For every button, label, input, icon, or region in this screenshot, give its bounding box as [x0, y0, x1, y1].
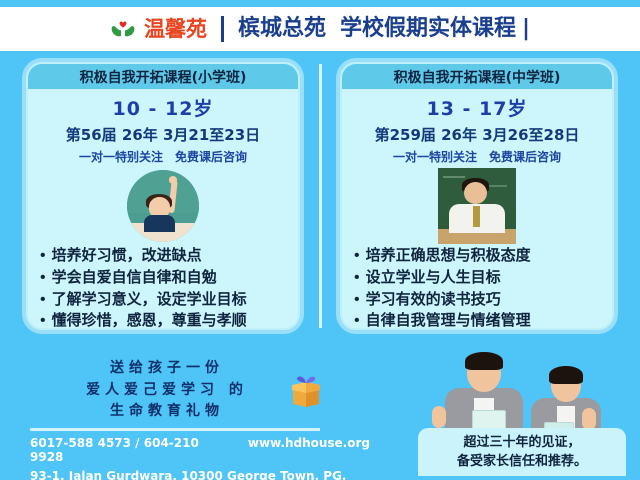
girl-raising-hand-photo	[127, 170, 199, 242]
card-banner-secondary: 积极自我开拓课程(中学班)	[342, 64, 612, 89]
card-banner-primary: 积极自我开拓课程(小学班)	[28, 64, 298, 89]
list-item-label: 培养好习惯，改进缺点	[52, 246, 202, 265]
bullet-icon: •	[354, 248, 360, 264]
contact-divider	[30, 428, 320, 431]
perk-attention: 一对一特别关注	[393, 150, 477, 164]
poster-root: 温馨苑 槟城总苑学校假期实体课程| 积极自我开拓课程(小学班) 10 - 12岁…	[0, 0, 640, 480]
phone-number[interactable]: 6017-588 4573 / 604-210 9928	[30, 436, 222, 464]
list-item: • 设立学业与人生目标	[354, 268, 604, 287]
age-range-secondary: 13 - 17岁	[342, 94, 612, 121]
card-banner-label: 积极自我开拓课程(小学班)	[80, 67, 247, 87]
address-text: 93-1, Jalan Gurdwara, 10300 George Town,…	[30, 469, 370, 480]
brand-name: 温馨苑	[144, 19, 207, 40]
list-item-label: 学会自爱自信自律和自勉	[52, 268, 217, 287]
bullet-icon: •	[354, 270, 360, 286]
header-underline	[0, 51, 640, 57]
list-item: • 培养好习惯，改进缺点	[40, 246, 290, 265]
list-item: • 了解学习意义，设定学业目标	[40, 290, 290, 309]
perks-primary: 一对一特别关注免费课后咨询	[28, 148, 298, 165]
bullet-icon: •	[40, 313, 46, 329]
benefit-list-secondary: • 培养正确思想与积极态度 • 设立学业与人生目标 • 学习有效的读书技巧 • …	[354, 246, 604, 330]
list-item-label: 了解学习意义，设定学业目标	[52, 290, 247, 309]
testimonial-line-2: 备受家长信任和推荐。	[457, 452, 587, 472]
list-item: • 学会自爱自信自律和自勉	[40, 268, 290, 287]
list-item-label: 自律自我管理与情绪管理	[366, 311, 531, 330]
bullet-icon: •	[354, 313, 360, 329]
slogan-block: 送给孩子一份 爱人爱己爱学习 的 生命教育礼物	[42, 358, 292, 423]
bullet-icon: •	[354, 292, 360, 308]
contact-row-primary: 6017-588 4573 / 604-210 9928 www.hdhouse…	[30, 436, 370, 464]
course-card-primary[interactable]: 积极自我开拓课程(小学班) 10 - 12岁 第56届 26年 3月21至23日…	[26, 62, 300, 330]
course-card-secondary[interactable]: 积极自我开拓课程(中学班) 13 - 17岁 第259届 26年 3月26至28…	[340, 62, 614, 330]
bullet-icon: •	[40, 270, 46, 286]
age-range-primary: 10 - 12岁	[28, 94, 298, 121]
page-title: 槟城总苑学校假期实体课程|	[238, 18, 530, 40]
list-item: • 懂得珍惜，感恩，尊重与孝顺	[40, 311, 290, 330]
list-item-label: 设立学业与人生目标	[366, 268, 501, 287]
list-item-label: 懂得珍惜，感恩，尊重与孝顺	[52, 311, 247, 330]
top-strip	[0, 0, 640, 7]
list-item: • 培养正确思想与积极态度	[354, 246, 604, 265]
page-title-branch: 槟城总苑	[238, 16, 326, 41]
slogan-line-2: 爱人爱己爱学习 的	[42, 380, 292, 402]
list-item-label: 培养正确思想与积极态度	[366, 246, 531, 265]
website-link[interactable]: www.hdhouse.org	[248, 436, 370, 450]
testimonial-line-1: 超过三十年的见证，	[463, 433, 580, 453]
card-banner-label: 积极自我开拓课程(中学班)	[394, 67, 561, 87]
slogan-line-1: 送给孩子一份	[42, 358, 292, 380]
session-date-primary: 第56届 26年 3月21至23日	[28, 124, 298, 145]
perk-attention: 一对一特别关注	[79, 150, 163, 164]
gift-box-icon	[288, 374, 324, 408]
list-item: • 学习有效的读书技巧	[354, 290, 604, 309]
header-bar: 温馨苑 槟城总苑学校假期实体课程|	[0, 7, 640, 51]
header-inner: 温馨苑 槟城总苑学校假期实体课程|	[110, 16, 530, 42]
session-date-secondary: 第259届 26年 3月26至28日	[342, 124, 612, 145]
header-separator	[221, 16, 224, 42]
contact-block: 6017-588 4573 / 604-210 9928 www.hdhouse…	[30, 436, 370, 480]
testimonial-box: 超过三十年的见证， 备受家长信任和推荐。	[418, 428, 626, 476]
boy-studying-photo	[438, 168, 516, 244]
list-item-label: 学习有效的读书技巧	[366, 290, 501, 309]
page-title-end: |	[522, 16, 530, 41]
perks-secondary: 一对一特别关注免费课后咨询	[342, 148, 612, 165]
perk-consult: 免费课后咨询	[489, 150, 561, 164]
slogan-line-3: 生命教育礼物	[42, 401, 292, 423]
list-item: • 自律自我管理与情绪管理	[354, 311, 604, 330]
benefit-list-primary: • 培养好习惯，改进缺点 • 学会自爱自信自律和自勉 • 了解学习意义，设定学业…	[40, 246, 290, 330]
page-title-program: 学校假期实体课程	[340, 16, 516, 41]
perk-consult: 免费课后咨询	[175, 150, 247, 164]
cards-divider	[319, 64, 322, 328]
heart-in-hands-icon	[110, 18, 136, 40]
bullet-icon: •	[40, 292, 46, 308]
bullet-icon: •	[40, 248, 46, 264]
